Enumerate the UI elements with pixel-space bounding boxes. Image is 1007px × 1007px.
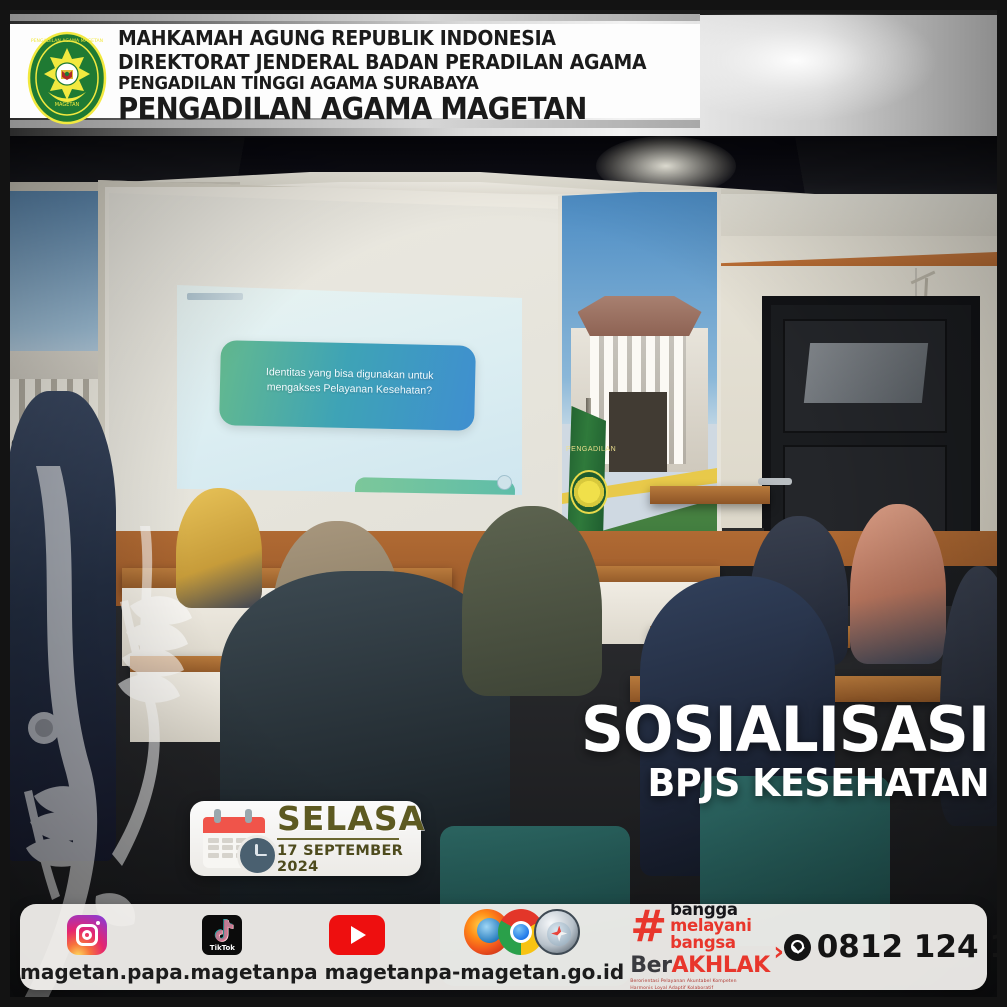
header-line-1: MAHKAMAH AGUNG REPUBLIK INDONESIA [118,28,633,49]
social-item-youtube[interactable]: pa magetan [290,904,424,990]
date-full-label: 17 SEPTEMBER 2024 [277,843,425,875]
social-item-tiktok[interactable]: TikTok pa.magetan [155,904,290,990]
berakhlak-values: Berorientasi Pelayanan Akuntabel Kompete… [630,979,742,992]
berakhlak-brand: BerAKHLAK› [630,953,770,978]
date-badge: SELASA 17 SEPTEMBER 2024 [190,801,421,876]
slide-corner-icon [497,475,512,490]
person-olive-shirt [462,506,602,696]
poster-title-block: SOSIALISASI BPJS KESEHATAN [564,700,989,803]
table-right-far [650,486,770,504]
tiktok-wordmark: TikTok [202,944,242,952]
header-line-3: PENGADILAN TINGGI AGAMA SURABAYA [118,75,633,93]
berakhlak-prefix: Ber [630,953,671,978]
social-media-bar: magetan.pa TikTok pa.magetan pa magetan [20,904,987,990]
instagram-handle: magetan.pa [20,960,155,984]
berakhlak-logo: # bangga melayani bangsa BerAKHLAK› Bero… [624,904,770,990]
date-day-label: SELASA [277,802,425,835]
instagram-icon[interactable] [67,915,107,955]
berakhlak-word-3: bangsa [670,935,752,952]
flag-emblem-icon [570,470,608,514]
svg-text:PENGADILAN AGAMA MAGETAN: PENGADILAN AGAMA MAGETAN [31,38,103,44]
clock-icon [237,835,278,876]
court-emblem-icon: MAGETAN PENGADILAN AGAMA MAGETAN [26,30,108,126]
person-hijab-peach [850,504,946,664]
youtube-icon[interactable] [329,915,385,955]
tiktok-handle: pa.magetan [155,960,290,984]
safari-icon [534,909,580,955]
website-url: pa-magetan.go.id [424,960,624,984]
whatsapp-contact[interactable]: 0812 124 124 13 [784,929,1007,965]
door-lever-handle [758,478,792,485]
flag-text: PENGADILAN [566,446,606,453]
whatsapp-icon [784,934,811,961]
event-photo: CNO Identitas yang bisa digunakan untuk … [10,136,997,997]
svg-text:MAGETAN: MAGETAN [55,102,80,108]
page-title: SOSIALISASI [581,700,989,760]
social-item-website[interactable]: pa-magetan.go.id [424,904,624,990]
presentation-slide: Identitas yang bisa digunakan untuk meng… [177,285,522,495]
date-divider [277,838,399,840]
slide-question-text: Identitas yang bisa digunakan untuk meng… [238,365,462,400]
header-text-block: MAHKAMAH AGUNG REPUBLIK INDONESIA DIREKT… [118,28,678,125]
browsers-icon[interactable] [464,909,584,955]
poster-canvas: CNO Identitas yang bisa digunakan untuk … [0,0,1007,1007]
calendar-clock-icon [197,807,271,871]
header-line-4: PENGADILAN AGAMA MAGETAN [118,95,633,125]
person-hijab-yellow [176,488,262,608]
institution-header: MAGETAN PENGADILAN AGAMA MAGETAN MAHKAMA… [10,8,997,136]
slide-question-card: Identitas yang bisa digunakan untuk meng… [219,340,476,431]
phone-number: 0812 124 124 13 [817,929,1007,965]
slide-logo-icon [187,293,243,300]
person-presenter-standing [10,391,116,861]
hash-icon: # [630,909,667,944]
tiktok-icon[interactable]: TikTok [202,915,242,955]
slide-answer-bar [355,477,515,503]
social-item-instagram[interactable]: magetan.pa [20,904,155,990]
berakhlak-suffix: AKHLAK [672,953,770,978]
page-subtitle: BPJS KESEHATAN [581,764,989,804]
header-line-2: DIREKTORAT JENDERAL BADAN PERADILAN AGAM… [118,52,633,73]
chevron-right-icon: › [773,937,783,967]
youtube-handle: pa magetan [290,960,424,984]
